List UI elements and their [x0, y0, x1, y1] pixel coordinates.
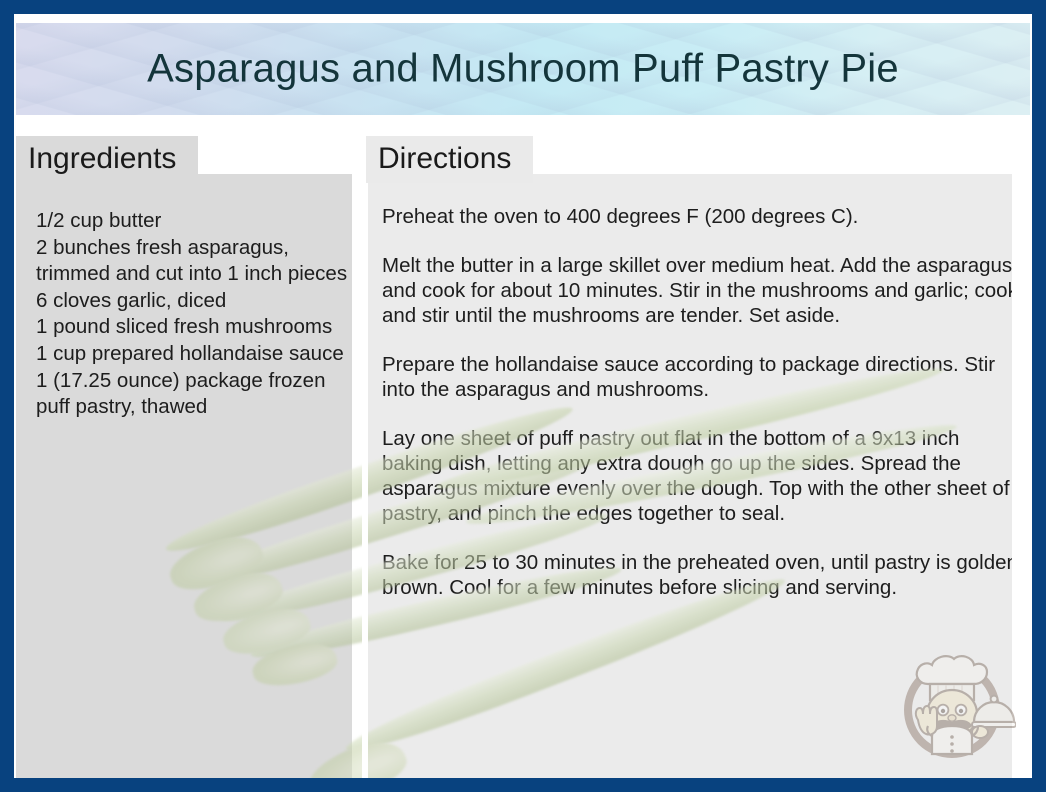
directions-header: Directions — [366, 136, 533, 183]
directions-panel: Preheat the oven to 400 degrees F (200 d… — [366, 174, 1012, 789]
title-banner: Asparagus and Mushroom Puff Pastry Pie — [16, 23, 1030, 115]
ingredients-panel: 1/2 cup butter 2 bunches fresh asparagus… — [16, 174, 352, 789]
direction-step: Lay one sheet of puff pastry out flat in… — [382, 426, 1012, 526]
ingredients-list: 1/2 cup butter 2 bunches fresh asparagus… — [36, 208, 352, 421]
ingredients-header: Ingredients — [16, 136, 198, 183]
page-title: Asparagus and Mushroom Puff Pastry Pie — [16, 47, 1030, 92]
directions-list: Preheat the oven to 400 degrees F (200 d… — [382, 204, 1012, 600]
direction-step: Melt the butter in a large skillet over … — [382, 253, 1012, 328]
recipe-card: Asparagus and Mushroom Puff Pastry Pie 1… — [0, 0, 1046, 792]
direction-step: Preheat the oven to 400 degrees F (200 d… — [382, 204, 1012, 229]
direction-step: Prepare the hollandaise sauce according … — [382, 352, 1012, 402]
direction-step: Bake for 25 to 30 minutes in the preheat… — [382, 550, 1012, 600]
